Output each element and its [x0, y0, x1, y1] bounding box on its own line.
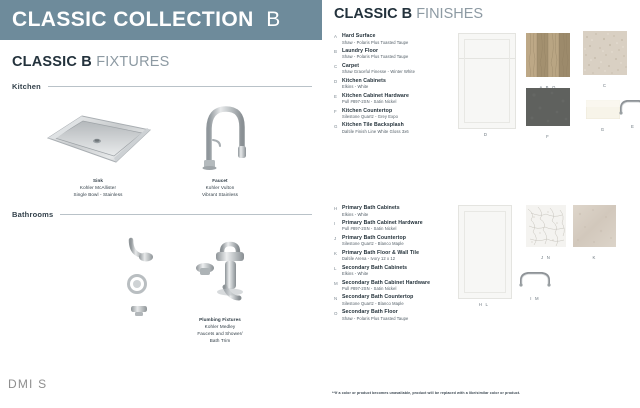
- grey-quartz-swatch-icon: [526, 88, 570, 126]
- finish-letter: K: [334, 250, 342, 262]
- list-item: A Hard Surface Shaw - Polaris Plus Toast…: [334, 33, 462, 45]
- finish-letter: E: [334, 93, 342, 105]
- arena-ivory-tile-swatch-icon: [573, 205, 616, 247]
- kitchen-rule-line: [48, 86, 312, 87]
- shower-trim-image: [115, 232, 177, 324]
- finish-letter: M: [334, 280, 342, 292]
- list-item: D Kitchen Cabinets Elkins - White: [334, 78, 462, 90]
- swatch-bath-cabinet-door: H L: [458, 205, 510, 297]
- cabinet-door-white: [458, 33, 516, 129]
- plumbing-fixtures-caption: Plumbing Fixtures Kohler Medley Faucets …: [160, 317, 280, 345]
- finish-letter: J: [334, 235, 342, 247]
- finish-letter: F: [334, 108, 342, 120]
- sink-icon: [38, 108, 158, 170]
- sink-line1: Kohler McAllister: [80, 185, 116, 190]
- finish-desc: Silestone Quartz - Blanco Maple: [342, 301, 462, 306]
- sink-line2: Single Bowl - Stainless: [73, 192, 122, 197]
- list-item: L Secondary Bath Cabinets Elkins - White: [334, 265, 462, 277]
- list-item: G Kitchen Tile Backsplash Daltile Finish…: [334, 122, 462, 134]
- plumbing-line1: Kohler Medley: [205, 324, 236, 329]
- sink-image: [38, 108, 158, 170]
- plumbing-line2: Faucets and Shower/: [197, 331, 242, 336]
- finish-desc: Shaw - Polaris Plus Toasted Taupe: [342, 54, 462, 59]
- finish-letter: H: [334, 205, 342, 217]
- finish-desc: Daltile Arena - Ivory 12 x 12: [342, 256, 462, 261]
- bath-faucet-image: [185, 238, 260, 310]
- finish-desc: Elkins - White: [342, 84, 462, 89]
- bathrooms-label: Bathrooms: [12, 210, 53, 219]
- blanco-maple-quartz-swatch-icon: [526, 205, 566, 247]
- swatch-caption: K: [573, 255, 616, 260]
- swatch-carpet: C: [583, 31, 627, 75]
- finish-letter: C: [334, 63, 342, 75]
- swatch-caption: J N: [526, 255, 566, 260]
- page-banner: CLASSIC COLLECTION B: [0, 0, 322, 40]
- right-column: CLASSIC B FINISHES A Hard Surface Shaw -…: [330, 0, 640, 408]
- list-item: N Secondary Bath Countertop Silestone Qu…: [334, 294, 462, 306]
- finish-desc: Silestone Quartz - Blanco Maple: [342, 241, 462, 246]
- finish-desc: Shaw - Polaris Plus Toasted Taupe: [342, 316, 462, 321]
- swatch-kitchen-cabinet-door: D: [458, 33, 514, 127]
- wood-plank-swatch-icon: [526, 33, 570, 77]
- bath-cabinet-pull-handle-icon: [518, 270, 552, 288]
- fixtures-heading-strong: CLASSIC B: [12, 54, 92, 70]
- list-item: I Primary Bath Cabinet Hardware Pull #89…: [334, 220, 462, 232]
- banner-title-letter: B: [266, 8, 280, 31]
- swatch-bath-tile: K: [573, 205, 616, 247]
- left-column: CLASSIC COLLECTION B CLASSIC B FIXTURES …: [0, 0, 322, 408]
- bath-finishes-list: H Primary Bath Cabinets Elkins - White I…: [334, 205, 462, 324]
- bathrooms-divider: Bathrooms: [12, 210, 312, 219]
- finish-letter: D: [334, 78, 342, 90]
- list-item: H Primary Bath Cabinets Elkins - White: [334, 205, 462, 217]
- finish-desc: Shaw - Polaris Plus Toasted Taupe: [342, 40, 462, 45]
- finish-letter: I: [334, 220, 342, 232]
- disclaimer-footnote: **If a color or product becomes unavaila…: [332, 391, 632, 395]
- swatch-caption: D: [458, 132, 514, 137]
- swatch-caption: E: [618, 124, 640, 129]
- finish-letter: L: [334, 265, 342, 277]
- swatch-bath-countertop: J N: [526, 205, 566, 247]
- finishes-heading-light: FINISHES: [416, 6, 483, 22]
- finishes-heading-strong: CLASSIC B: [334, 6, 412, 22]
- faucet-name: Faucet: [160, 178, 280, 185]
- faucet-image: [185, 100, 255, 172]
- finishes-heading: CLASSIC B FINISHES: [334, 6, 483, 22]
- fixtures-heading-light: FIXTURES: [96, 54, 169, 70]
- list-item: J Primary Bath Countertop Silestone Quar…: [334, 235, 462, 247]
- company-logo: DMI S: [8, 377, 47, 391]
- fixtures-heading: CLASSIC B FIXTURES: [12, 54, 170, 70]
- kitchen-label: Kitchen: [12, 82, 41, 91]
- finish-letter: G: [334, 122, 342, 134]
- swatch-caption: F: [526, 134, 570, 139]
- kitchen-finishes-list: A Hard Surface Shaw - Polaris Plus Toast…: [334, 33, 462, 137]
- finish-desc: Elkins - White: [342, 212, 462, 217]
- plumbing-name: Plumbing Fixtures: [160, 317, 280, 324]
- finish-desc: Pull #897-2SN - Satin Nickel: [342, 226, 462, 231]
- banner-title: CLASSIC COLLECTION B: [0, 8, 281, 32]
- banner-title-main: CLASSIC COLLECTION: [12, 8, 254, 31]
- kitchen-divider: Kitchen: [12, 82, 312, 91]
- sink-caption: Sink Kohler McAllister Single Bowl - Sta…: [48, 178, 148, 199]
- list-item: F Kitchen Countertop Silestone Quartz - …: [334, 108, 462, 120]
- white-gloss-tile-swatch-icon: [586, 100, 620, 119]
- swatch-caption: I M: [518, 296, 552, 301]
- finish-letter: A: [334, 33, 342, 45]
- finish-desc: Shaw Graceful Finesse - Winter White: [342, 69, 462, 74]
- cabinet-pull-handle-icon: [618, 98, 640, 116]
- list-item: M Secondary Bath Cabinet Hardware Pull #…: [334, 280, 462, 292]
- bath-faucet-icon: [185, 238, 260, 310]
- finish-letter: B: [334, 48, 342, 60]
- list-item: E Kitchen Cabinet Hardware Pull #897-2SN…: [334, 93, 462, 105]
- swatch-caption: C: [583, 83, 627, 88]
- list-item: C Carpet Shaw Graceful Finesse - Winter …: [334, 63, 462, 75]
- shower-head-icon: [115, 232, 177, 324]
- swatch-bath-cabinet-pull: I M: [518, 270, 552, 288]
- finish-letter: O: [334, 309, 342, 321]
- swatch-caption: G: [586, 127, 620, 132]
- faucet-line1: Kohler Vulton: [206, 185, 235, 190]
- swatch-hard-surface-wood: A B O: [526, 33, 570, 77]
- faucet-caption: Faucet Kohler Vulton Vibrant Stainless: [160, 178, 280, 199]
- list-item: B Laundry Floor Shaw - Polaris Plus Toas…: [334, 48, 462, 60]
- finish-desc: Daltile Finish Line White Gloss 3x6: [342, 129, 462, 134]
- swatch-kitchen-tile-backsplash: G: [586, 100, 620, 119]
- finish-desc: Pull #897-2SN - Satin Nickel: [342, 286, 462, 291]
- swatch-caption: H L: [458, 302, 510, 307]
- bathrooms-rule-line: [60, 214, 312, 215]
- faucet-line2: Vibrant Stainless: [202, 192, 238, 197]
- finish-letter: N: [334, 294, 342, 306]
- list-item: O Secondary Bath Floor Shaw - Polaris Pl…: [334, 309, 462, 321]
- spec-sheet-page: CLASSIC COLLECTION B CLASSIC B FIXTURES …: [0, 0, 640, 408]
- finish-desc: Silestone Quartz - Grey Expo: [342, 114, 462, 119]
- carpet-swatch-icon: [583, 31, 627, 75]
- bath-cabinet-door-white: [458, 205, 512, 299]
- swatch-kitchen-cabinet-pull: E: [618, 98, 640, 116]
- faucet-icon: [185, 100, 255, 172]
- finish-desc: Pull #897-2SN - Satin Nickel: [342, 99, 462, 104]
- swatch-kitchen-countertop: F: [526, 88, 570, 126]
- plumbing-line3: Bath Trim: [210, 338, 231, 343]
- list-item: K Primary Bath Floor & Wall Tile Daltile…: [334, 250, 462, 262]
- finish-desc: Elkins - White: [342, 271, 462, 276]
- sink-name: Sink: [48, 178, 148, 185]
